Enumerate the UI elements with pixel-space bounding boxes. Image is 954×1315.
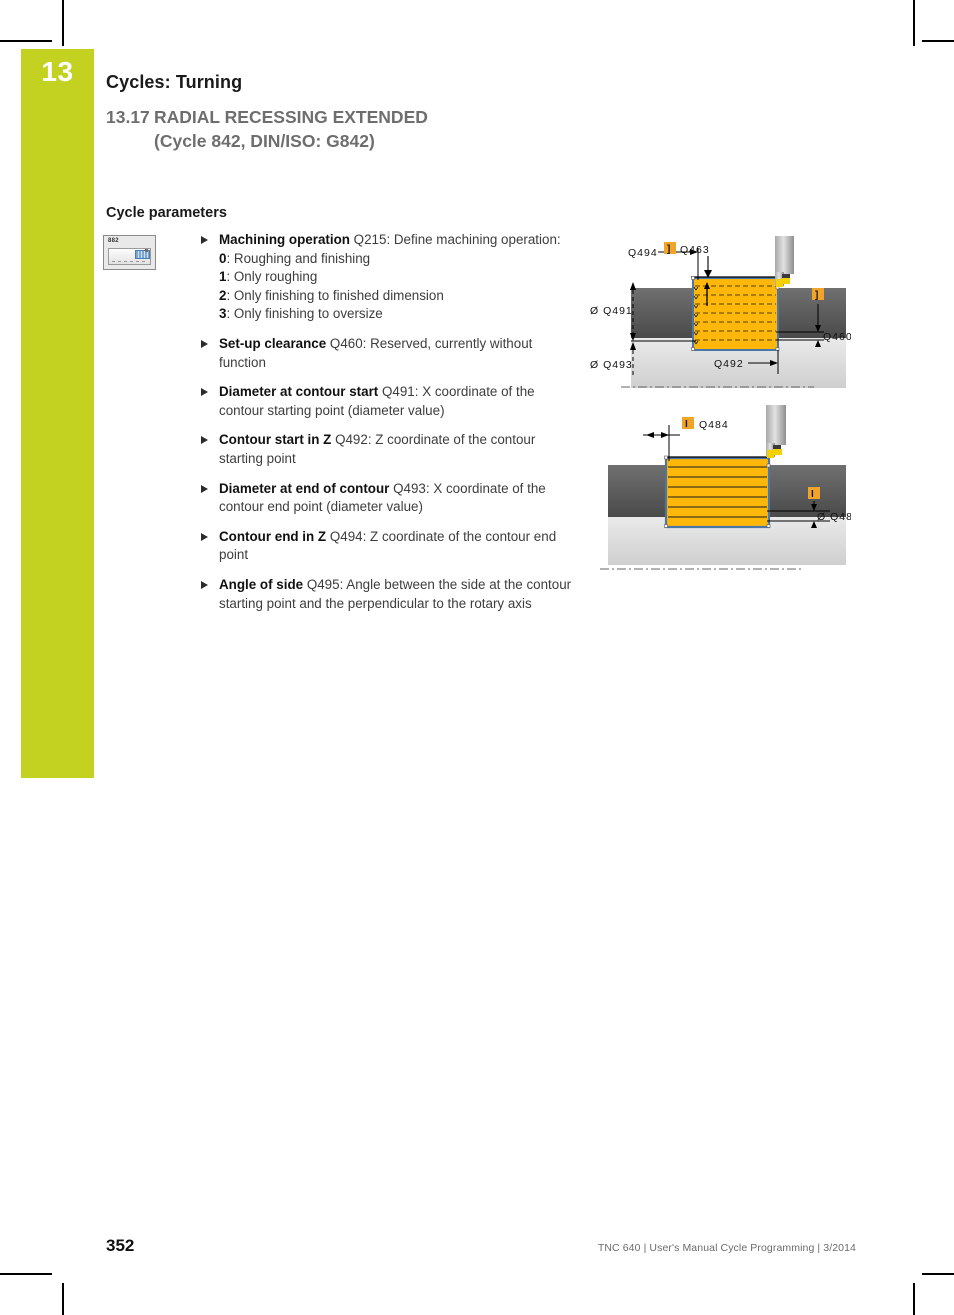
parameter-name: Diameter at end of contour bbox=[219, 481, 389, 496]
cycle-parameter-list: Machining operation Q215: Define machini… bbox=[201, 231, 576, 624]
bullet-triangle-icon bbox=[201, 236, 208, 244]
section-number: 13.17 bbox=[106, 105, 154, 129]
parameter-name: Angle of side bbox=[219, 577, 303, 592]
parameter-name: Set-up clearance bbox=[219, 336, 326, 351]
label-q463: Q463 bbox=[680, 244, 710, 256]
crop-mark-top-left bbox=[62, 0, 64, 46]
parameter-item: Contour end in Z Q494: Z coordinate of t… bbox=[201, 528, 576, 565]
chapter-number: 13 bbox=[21, 56, 94, 88]
center-axis-icon bbox=[112, 261, 147, 262]
bullet-triangle-icon bbox=[201, 581, 208, 589]
label-q483: Ø Q483 bbox=[817, 511, 851, 523]
parameter-option: 1: Only roughing bbox=[219, 268, 576, 287]
bullet-triangle-icon bbox=[201, 340, 208, 348]
page-number: 352 bbox=[106, 1236, 134, 1256]
badge-q483: I bbox=[811, 489, 814, 500]
chapter-title: Cycles: Turning bbox=[106, 72, 242, 93]
parameter-item: Diameter at contour start Q491: X coordi… bbox=[201, 383, 576, 420]
manual-page: 13 Cycles: Turning 13.17RADIAL RECESSING… bbox=[0, 0, 954, 1315]
parameter-item: Angle of side Q495: Angle between the si… bbox=[201, 576, 576, 613]
cycle-softkey-graphic bbox=[108, 248, 151, 265]
label-q492: Q492 bbox=[714, 358, 744, 370]
option-text: : Roughing and finishing bbox=[226, 251, 370, 266]
label-q494: Q494 bbox=[628, 247, 658, 259]
section-title: 13.17RADIAL RECESSING EXTENDED (Cycle 84… bbox=[106, 105, 586, 153]
crop-mark-top-right bbox=[913, 0, 915, 46]
bullet-triangle-icon bbox=[201, 533, 208, 541]
parameter-code: Q492 bbox=[335, 432, 368, 447]
crop-mark-right-bottom bbox=[922, 1273, 954, 1275]
parameter-name: Machining operation bbox=[219, 232, 350, 247]
option-text: : Only finishing to finished dimension bbox=[226, 288, 443, 303]
option-text: : Only finishing to oversize bbox=[226, 306, 382, 321]
label-q493: Ø Q493 bbox=[590, 359, 633, 371]
section-title-line1: RADIAL RECESSING EXTENDED bbox=[154, 107, 428, 127]
label-q484: Q484 bbox=[699, 419, 729, 431]
parameter-item: Contour start in Z Q492: Z coordinate of… bbox=[201, 431, 576, 468]
badge-q484: I bbox=[685, 419, 688, 430]
parameter-name: Diameter at contour start bbox=[219, 384, 378, 399]
parameter-item: Diameter at end of contour Q493: X coord… bbox=[201, 480, 576, 517]
crop-mark-right-top bbox=[922, 40, 954, 42]
crop-mark-left-bottom bbox=[0, 1273, 52, 1275]
bullet-triangle-icon bbox=[201, 388, 208, 396]
parameter-name: Contour start in Z bbox=[219, 432, 331, 447]
label-q491: Ø Q491 bbox=[590, 305, 633, 317]
parameter-code: Q494 bbox=[330, 529, 363, 544]
bullet-triangle-icon bbox=[201, 436, 208, 444]
footer-text: TNC 640 | User's Manual Cycle Programmin… bbox=[598, 1242, 856, 1254]
parameter-item: Machining operation Q215: Define machini… bbox=[201, 231, 576, 324]
parameter-code: Q493 bbox=[393, 481, 426, 496]
parameter-option: 3: Only finishing to oversize bbox=[219, 305, 576, 324]
parameter-option: 2: Only finishing to finished dimension bbox=[219, 287, 576, 306]
bullet-triangle-icon bbox=[201, 485, 208, 493]
tool-shank-icon bbox=[145, 248, 148, 252]
crop-mark-bottom-right bbox=[913, 1283, 915, 1315]
parameter-code: Q491 bbox=[382, 384, 415, 399]
parameter-code: Q495 bbox=[307, 577, 340, 592]
page-subheading: Cycle parameters bbox=[106, 205, 227, 221]
parameter-option: 0: Roughing and finishing bbox=[219, 250, 576, 269]
parameter-item: Set-up clearance Q460: Reserved, current… bbox=[201, 335, 576, 372]
crop-mark-bottom-left bbox=[62, 1283, 64, 1315]
badge-q463: ] bbox=[667, 244, 670, 255]
option-text: : Only roughing bbox=[226, 269, 317, 284]
figure-radial-recessing-roughing: Q494 ] Q463 Ø Q491 Ø Q493 Q492 ] Q460 bbox=[586, 228, 851, 393]
section-title-line2: (Cycle 842, DIN/ISO: G842) bbox=[106, 129, 586, 153]
figure-radial-recessing-finishing: I Q484 I Ø Q483 bbox=[586, 403, 851, 575]
chapter-color-bar bbox=[21, 49, 94, 778]
parameter-name: Contour end in Z bbox=[219, 529, 326, 544]
parameter-description: : Define machining operation: bbox=[386, 232, 560, 247]
parameter-code: Q215 bbox=[354, 232, 387, 247]
cycle-softkey-label: 882 bbox=[108, 238, 119, 244]
label-q460: Q460 bbox=[823, 331, 851, 343]
parameter-code: Q460 bbox=[330, 336, 363, 351]
crop-mark-left-top bbox=[0, 40, 52, 42]
cycle-softkey-icon: 882 bbox=[103, 235, 156, 270]
badge-q460: ] bbox=[815, 290, 818, 301]
